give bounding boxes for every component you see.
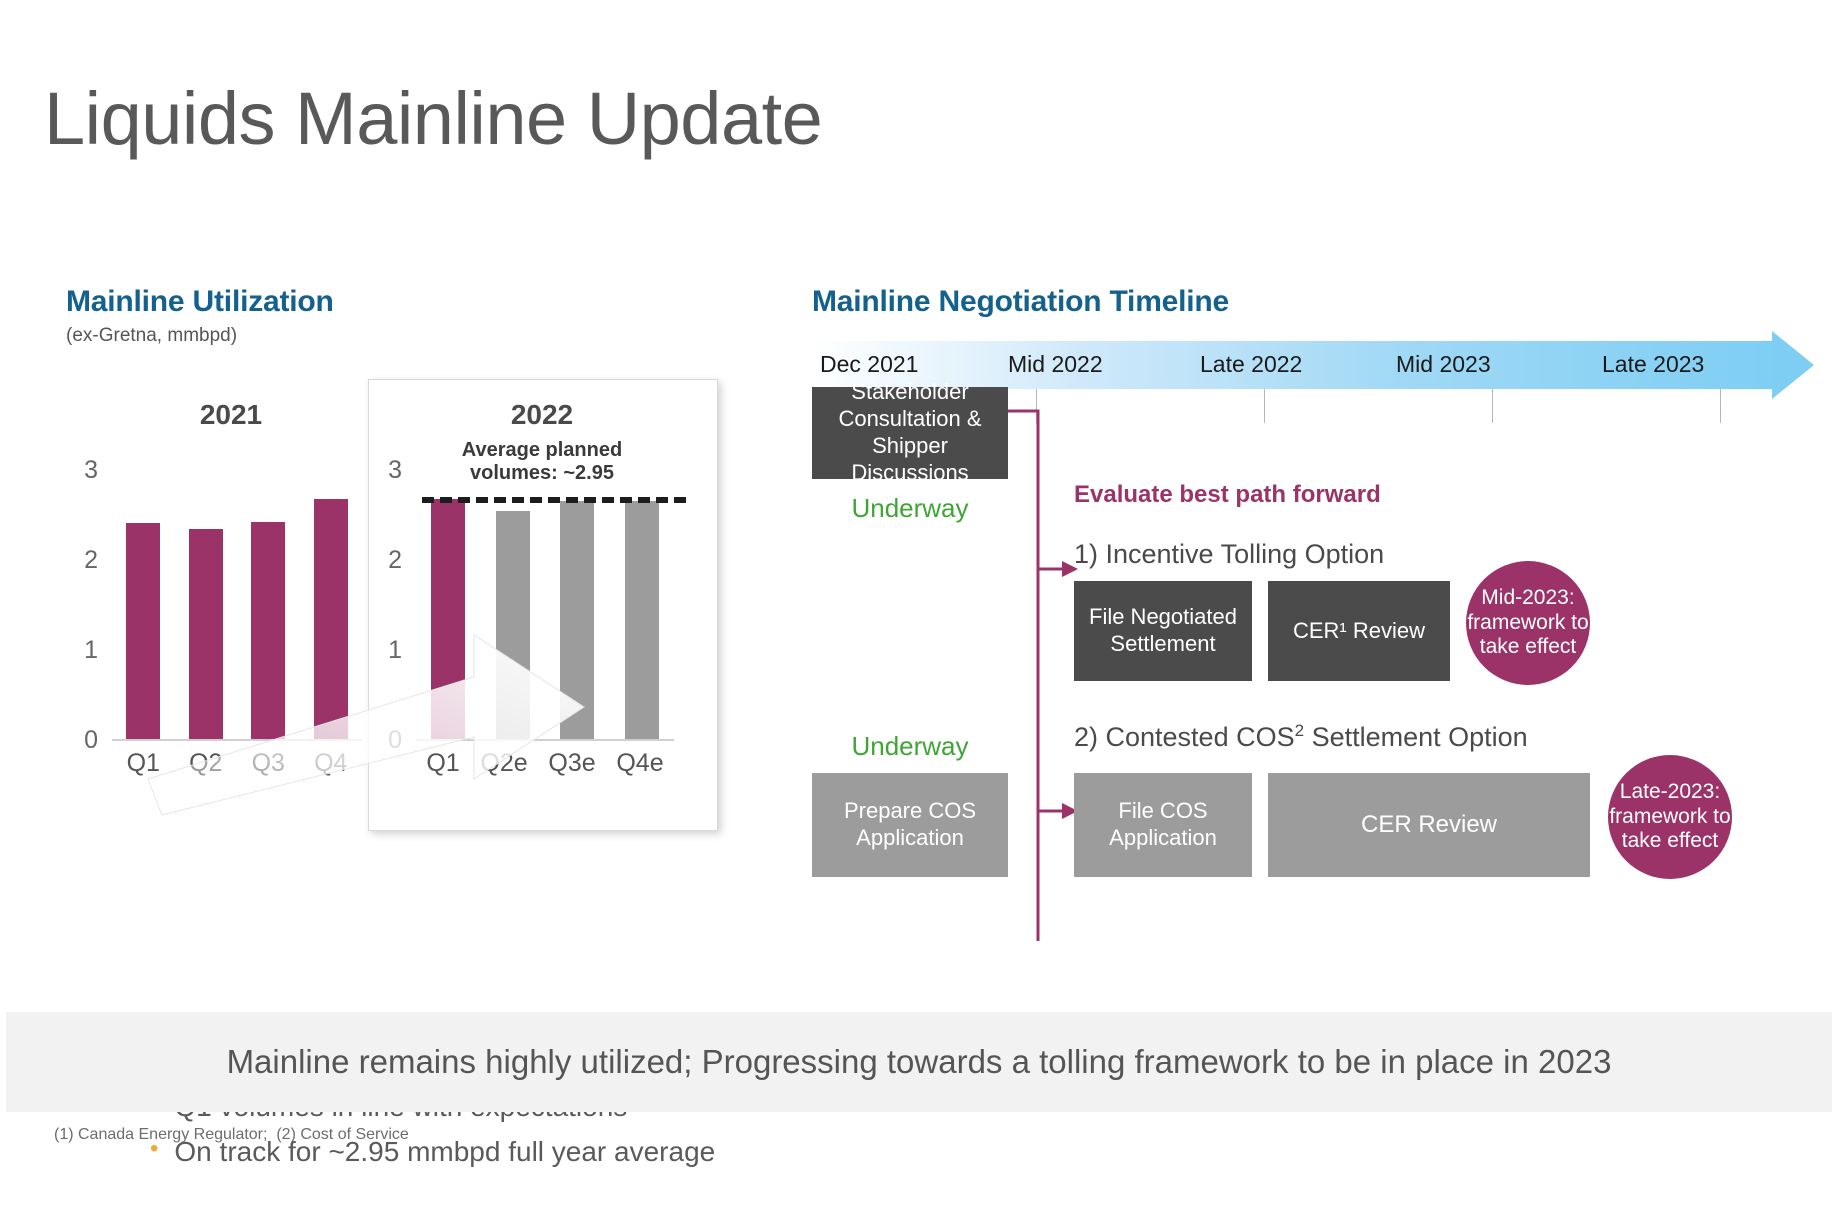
timeline-tick-4: [1720, 389, 1721, 423]
option-2-label-sup: 2: [1295, 721, 1304, 740]
xlabel-2021-q1: Q1: [127, 749, 160, 778]
chart-2021-plot: 3 2 1 0 Q1 Q2 Q3 Q4: [112, 471, 362, 741]
option-1-box-file-negotiated-settlement: File Negotiated Settlement: [1074, 581, 1252, 681]
option-2-status-badge: Underway: [812, 731, 1008, 762]
timeline-label-late-2022: Late 2022: [1200, 351, 1302, 378]
xlabel-2021-q2: Q2: [189, 749, 222, 778]
timeline-label-mid-2022: Mid 2022: [1008, 351, 1103, 378]
chart-2021-axis: [112, 739, 362, 741]
chart-2022-ytick-1: 1: [388, 636, 402, 665]
timeline-tick-1: [1036, 389, 1037, 423]
chart-2022-ytick-3: 3: [388, 456, 402, 485]
xlabel-2021-q4: Q4: [314, 749, 347, 778]
xlabel-2022-q3e: Q3e: [548, 749, 595, 778]
bar-2021-q4: [314, 499, 348, 739]
xlabel-2022-q4e: Q4e: [616, 749, 663, 778]
chart-2021-ytick-3: 3: [84, 456, 98, 485]
timeline-arrowhead-icon: [1772, 331, 1814, 399]
timeline-tick-3: [1492, 389, 1493, 423]
chart-2022-ytick-2: 2: [388, 546, 402, 575]
chart-2021-bars: [112, 471, 362, 739]
option-2-cer-review-text: CER Review: [1361, 810, 1497, 839]
chart-2022-plot: 3 2 1 0 Q1 Q2e Q3e: [416, 471, 674, 741]
mainline-utilization-panel: Mainline Utilization (ex-Gretna, mmbpd) …: [66, 285, 756, 811]
utilization-chart: 2021 3 2 1 0 Q1 Q2: [66, 361, 756, 811]
option-1-box-cer-review: CER¹ Review: [1268, 581, 1450, 681]
stakeholder-status-badge: Underway: [812, 493, 1008, 524]
bar-2022-q3e: [560, 501, 594, 739]
chart-2022-bars: [416, 471, 674, 739]
timeline-label-mid-2023: Mid 2023: [1396, 351, 1491, 378]
option-2-label-pre: 2) Contested COS: [1074, 722, 1295, 752]
left-panel-subheading: (ex-Gretna, mmbpd): [66, 325, 756, 347]
stakeholder-consultation-box: Stakeholder Consultation & Shipper Discu…: [812, 387, 1008, 479]
option-2-box-file-cos-application: File COS Application: [1074, 773, 1252, 877]
option-1-label: 1) Incentive Tolling Option: [1074, 539, 1384, 570]
xlabel-2022-q1: Q1: [426, 749, 459, 778]
option-2-label: 2) Contested COS2 Settlement Option: [1074, 721, 1528, 753]
chart-2021-ytick-0: 0: [84, 726, 98, 755]
chart-2022-ytick-0: 0: [388, 726, 402, 755]
bar-2022-q1: [431, 499, 465, 739]
average-reference-line: [422, 497, 686, 503]
left-panel-heading: Mainline Utilization: [66, 285, 756, 319]
slide-root: Liquids Mainline Update Mainline Utiliza…: [0, 0, 1838, 1206]
xlabel-2022-q2e: Q2e: [480, 749, 527, 778]
chart-2021-year: 2021: [66, 399, 396, 431]
footer-banner: Mainline remains highly utilized; Progre…: [6, 1012, 1832, 1112]
evaluate-path-label: Evaluate best path forward: [1074, 481, 1381, 509]
option-2-box-cer-review: CER Review: [1268, 773, 1590, 877]
bar-2021-q2: [189, 529, 223, 739]
xlabel-2021-q3: Q3: [252, 749, 285, 778]
bar-2021-q3: [251, 522, 285, 739]
right-panel-heading: Mainline Negotiation Timeline: [812, 285, 1792, 319]
option-1-outcome-circle: Mid-2023: framework to take effect: [1466, 561, 1590, 685]
timeline-tick-2: [1264, 389, 1265, 423]
chart-2021-ytick-1: 1: [84, 636, 98, 665]
footnote: (1) Canada Energy Regulator; (2) Cost of…: [54, 1126, 409, 1144]
chart-2022-axis: [416, 739, 674, 741]
timeline-label-dec-2021: Dec 2021: [820, 351, 918, 378]
annotation-line-1: Average planned: [368, 439, 716, 462]
chart-2021-ytick-2: 2: [84, 546, 98, 575]
bar-2022-q4e: [625, 501, 659, 739]
negotiation-timeline-panel: Mainline Negotiation Timeline Dec 2021 M…: [812, 285, 1792, 433]
option-2-box-prepare-cos-application: Prepare COS Application: [812, 773, 1008, 877]
option-2-label-post: Settlement Option: [1304, 722, 1528, 752]
chart-2022-year: 2022: [368, 399, 716, 431]
bar-2022-q2e: [496, 511, 530, 739]
page-title: Liquids Mainline Update: [44, 76, 822, 161]
option-1-cer-review-text: CER¹ Review: [1293, 618, 1425, 645]
bar-2021-q1: [126, 523, 160, 739]
timeline-label-late-2023: Late 2023: [1602, 351, 1704, 378]
chart-2021-xlabels: Q1 Q2 Q3 Q4: [112, 749, 362, 778]
footer-banner-text: Mainline remains highly utilized; Progre…: [227, 1043, 1612, 1081]
option-2-outcome-circle: Late-2023: framework to take effect: [1608, 755, 1732, 879]
chart-2022-xlabels: Q1 Q2e Q3e Q4e: [416, 749, 674, 778]
